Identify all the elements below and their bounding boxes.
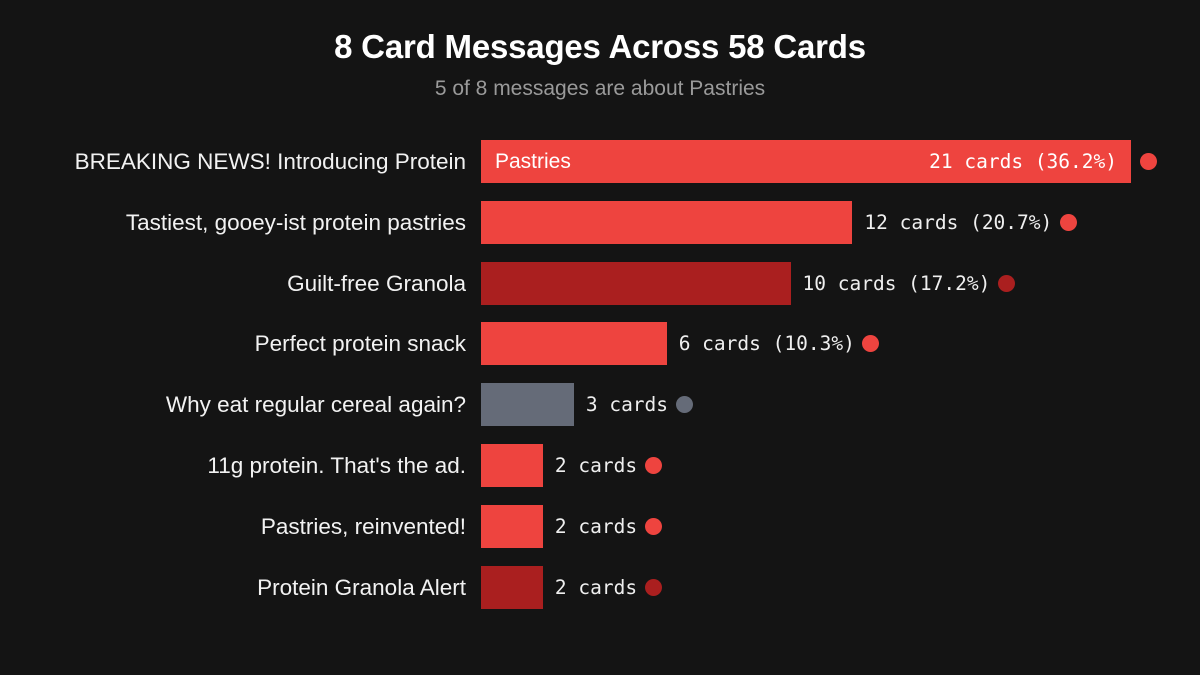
chart-container: 8 Card Messages Across 58 Cards 5 of 8 m… xyxy=(0,0,1200,675)
bar-row: Perfect protein snack6 cards (10.3%) xyxy=(0,322,1200,365)
bar-group-dot-marker xyxy=(862,335,879,352)
bar-inner-label: Pastries xyxy=(495,140,571,183)
bar-category-label: BREAKING NEWS! Introducing Protein xyxy=(0,140,466,183)
bar-value-label: 2 cards xyxy=(555,505,637,548)
bar-category-label: Guilt-free Granola xyxy=(0,262,466,305)
bar xyxy=(481,201,852,244)
bar-value-label: 3 cards xyxy=(586,383,668,426)
bar-category-label: 11g protein. That's the ad. xyxy=(0,444,466,487)
bar-value-label: 2 cards xyxy=(555,444,637,487)
bar-row: 11g protein. That's the ad.2 cards xyxy=(0,444,1200,487)
bar xyxy=(481,383,574,426)
bar xyxy=(481,566,543,609)
bar-value-label: 10 cards (17.2%) xyxy=(803,262,991,305)
bar-row: Tastiest, gooey-ist protein pastries12 c… xyxy=(0,201,1200,244)
bar-value-label: 2 cards xyxy=(555,566,637,609)
chart-title: 8 Card Messages Across 58 Cards xyxy=(0,28,1200,67)
bar-category-label: Why eat regular cereal again? xyxy=(0,383,466,426)
bar-value-label: 21 cards (36.2%) xyxy=(929,140,1117,183)
bar xyxy=(481,262,791,305)
bar-row: Pastries, reinvented!2 cards xyxy=(0,505,1200,548)
bar-value-label: 6 cards (10.3%) xyxy=(679,322,855,365)
bar-group-dot-marker xyxy=(1140,153,1157,170)
bar-group-dot-marker xyxy=(645,579,662,596)
bar-row: BREAKING NEWS! Introducing ProteinPastri… xyxy=(0,140,1200,183)
bar-row: Protein Granola Alert2 cards xyxy=(0,566,1200,609)
bar-row: Why eat regular cereal again?3 cards xyxy=(0,383,1200,426)
bar-row: Guilt-free Granola10 cards (17.2%) xyxy=(0,262,1200,305)
bar-group-dot-marker xyxy=(998,275,1015,292)
bar-category-label: Protein Granola Alert xyxy=(0,566,466,609)
bar xyxy=(481,505,543,548)
bar-group-dot-marker xyxy=(676,396,693,413)
chart-header: 8 Card Messages Across 58 Cards 5 of 8 m… xyxy=(0,0,1200,101)
bar xyxy=(481,322,667,365)
bar-group-dot-marker xyxy=(1060,214,1077,231)
bar-group-dot-marker xyxy=(645,518,662,535)
bar-group-dot-marker xyxy=(645,457,662,474)
bar xyxy=(481,444,543,487)
bar-category-label: Pastries, reinvented! xyxy=(0,505,466,548)
chart-subtitle: 5 of 8 messages are about Pastries xyxy=(0,76,1200,101)
bar-value-label: 12 cards (20.7%) xyxy=(864,201,1052,244)
bar-category-label: Tastiest, gooey-ist protein pastries xyxy=(0,201,466,244)
bar-chart-plot-area: BREAKING NEWS! Introducing ProteinPastri… xyxy=(0,140,1200,640)
bar-category-label: Perfect protein snack xyxy=(0,322,466,365)
